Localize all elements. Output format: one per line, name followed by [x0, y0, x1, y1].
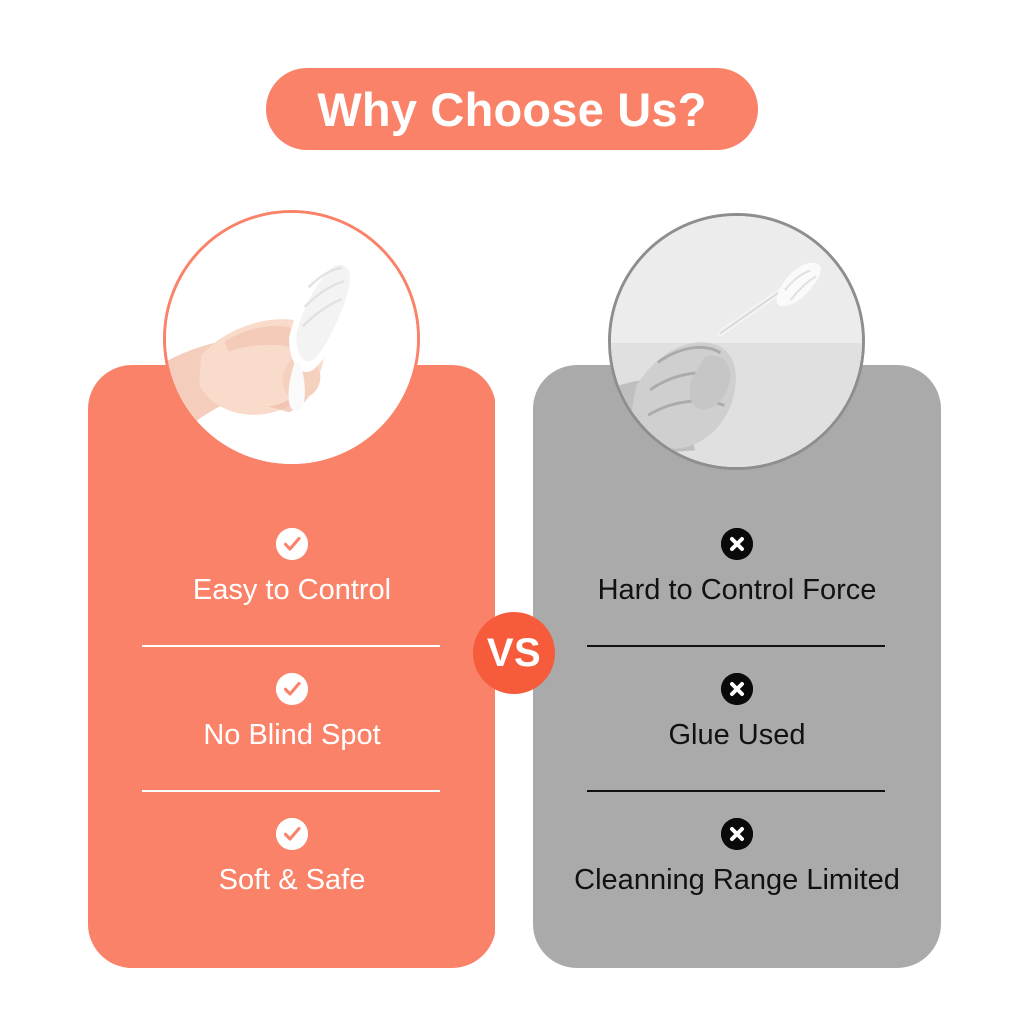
list-item-label: Soft & Safe	[219, 865, 366, 897]
drawbacks-photo	[608, 213, 865, 470]
advantages-photo	[163, 210, 420, 467]
cotton-swab-hand-illustration	[611, 216, 862, 467]
page-title-banner: Why Choose Us?	[266, 68, 758, 150]
list-item-label: Easy to Control	[193, 575, 391, 607]
list-item-label: Cleanning Range Limited	[574, 865, 900, 897]
list-item: Soft & Safe	[88, 800, 496, 945]
cross-circle-icon	[721, 528, 753, 560]
list-divider	[587, 645, 885, 647]
check-circle-icon	[276, 818, 308, 850]
why-choose-us-infographic: Why Choose Us?	[0, 0, 1024, 1024]
list-item: Glue Used	[533, 655, 941, 800]
vs-badge: VS	[473, 612, 555, 694]
list-item-label: Hard to Control Force	[598, 575, 877, 607]
vs-label: VS	[487, 633, 541, 673]
drawbacks-list: Hard to Control Force Glue Used Cleannin…	[533, 510, 941, 945]
finger-cot-hand-illustration	[166, 213, 417, 464]
list-item-label: No Blind Spot	[203, 720, 380, 752]
cross-circle-icon	[721, 818, 753, 850]
list-item: Hard to Control Force	[533, 510, 941, 655]
advantages-list: Easy to Control No Blind Spot Soft & Saf…	[88, 510, 496, 945]
check-circle-icon	[276, 673, 308, 705]
list-divider	[587, 790, 885, 792]
list-item: Easy to Control	[88, 510, 496, 655]
cross-circle-icon	[721, 673, 753, 705]
page-title: Why Choose Us?	[317, 86, 706, 133]
list-item-label: Glue Used	[668, 720, 805, 752]
list-divider	[142, 645, 440, 647]
list-divider	[142, 790, 440, 792]
list-item: Cleanning Range Limited	[533, 800, 941, 945]
list-item: No Blind Spot	[88, 655, 496, 800]
check-circle-icon	[276, 528, 308, 560]
